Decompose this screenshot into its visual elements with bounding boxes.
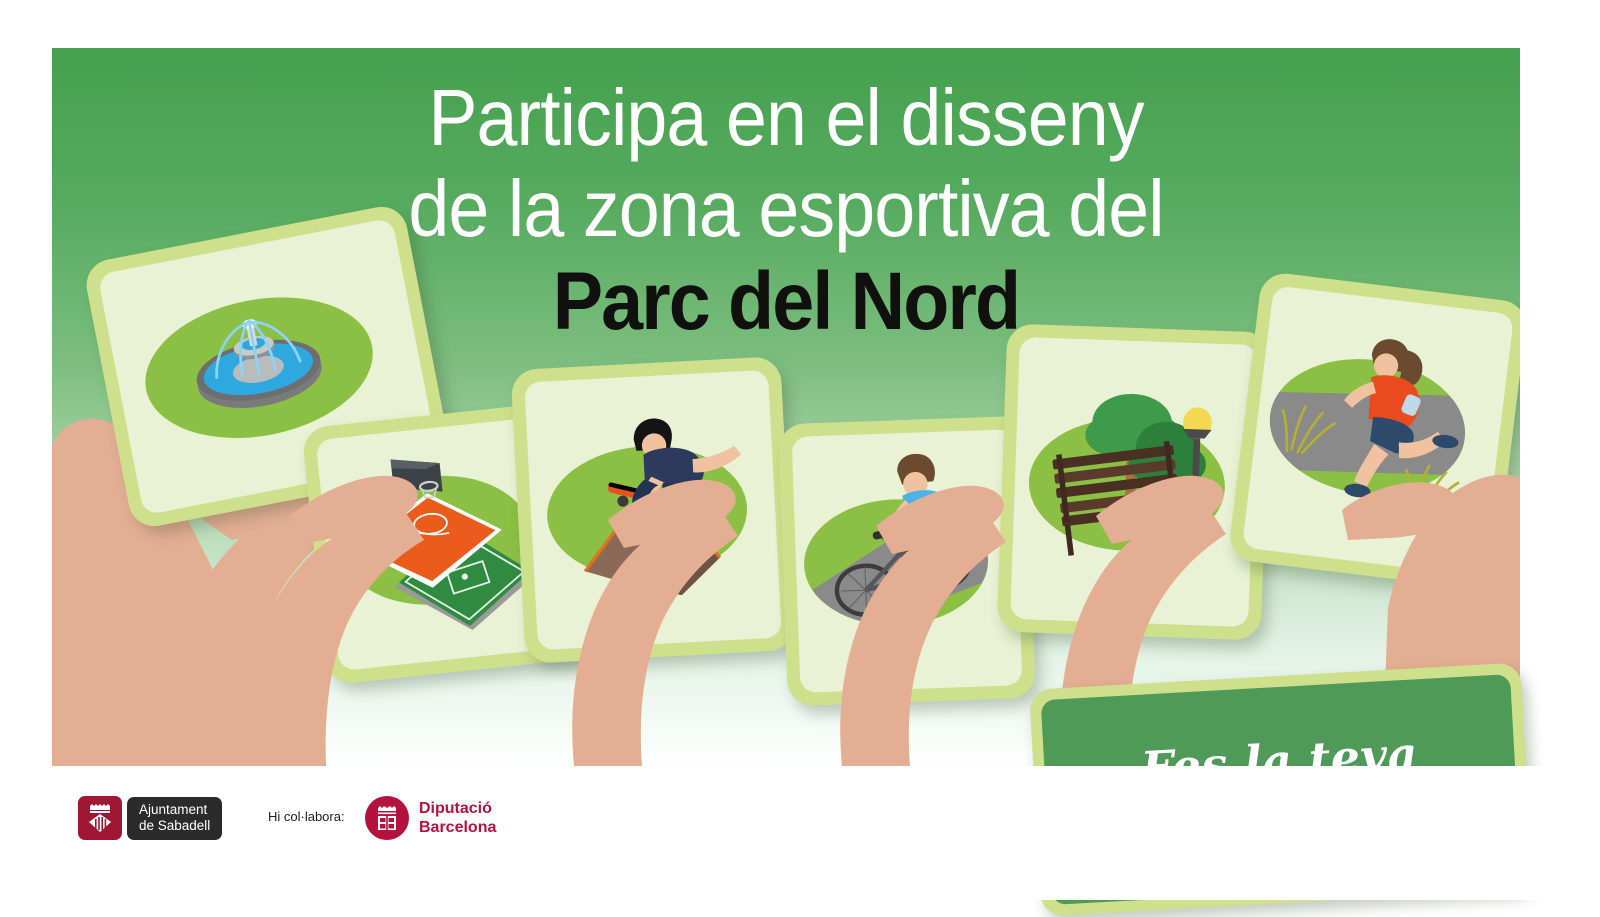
ajuntament-sabadell-logo[interactable]: Ajuntament de Sabadell [78,796,222,840]
footer-logos: Ajuntament de Sabadell Hi col·labora: [0,766,1600,900]
diputacio-barcelona-logo[interactable]: Diputació Barcelona [365,796,496,840]
poster-canvas: Participa en el disseny de la zona espor… [0,0,1600,900]
collaborate-label: Hi col·labora: [268,809,345,824]
ajuntament-line-2: de Sabadell [139,818,210,834]
sabadell-crest-icon [78,796,122,840]
ajuntament-name: Ajuntament de Sabadell [127,797,222,840]
diputacio-line-2: Barcelona [419,818,496,837]
diputacio-name: Diputació Barcelona [419,799,496,837]
diputacio-line-1: Diputació [419,799,496,818]
crest-crown-icon [372,803,402,833]
ajuntament-line-1: Ajuntament [139,802,210,818]
diputacio-crest-icon [365,796,409,840]
hands-layer-6 [52,48,1520,766]
poster-banner: Participa en el disseny de la zona espor… [52,48,1520,766]
crest-shield-icon [85,802,115,834]
